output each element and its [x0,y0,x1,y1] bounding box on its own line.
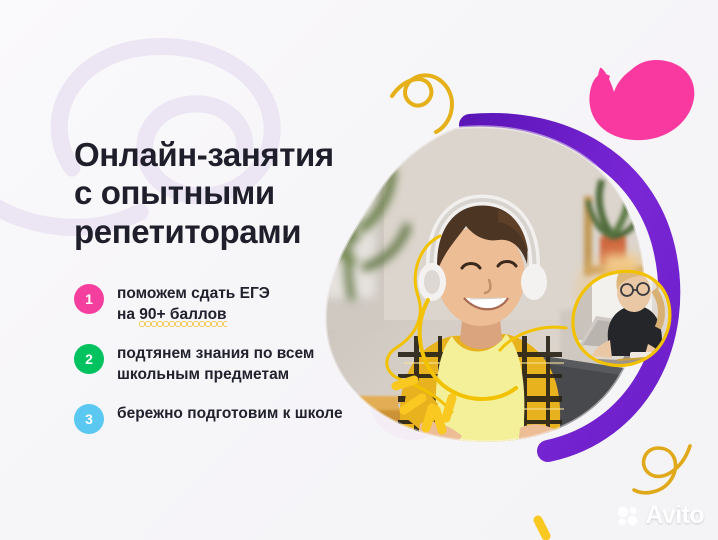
yellow-dash-bottom-decor [538,520,546,536]
list-item: 3 бережно подготовим к школе [74,403,404,434]
page-title: Онлайн-занятия с опытными репетиторами [74,136,364,251]
avito-logo-icon [616,504,640,528]
bullet-text-highlight: 90+ баллов [139,306,226,327]
yellow-squiggle-bottom-decor [634,446,690,493]
bullet-text: бережно подготовим к школе [117,403,343,425]
benefits-list: 1 поможем сдать ЕГЭ на 90+ баллов 2 подт… [74,283,404,434]
yellow-squiggle-top-decor [392,75,452,132]
bullet-text-lead: бережно подготовим к школе [117,405,343,422]
bullet-number-badge: 3 [74,404,104,434]
list-item: 1 поможем сдать ЕГЭ на 90+ баллов [74,283,404,325]
bullet-number-badge: 1 [74,284,104,314]
banner-canvas: Онлайн-занятия с опытными репетиторами 1… [0,0,718,540]
bullet-text: подтянем знания по всем школьным предмет… [117,343,314,385]
bullet-number-badge: 2 [74,344,104,374]
avito-wordmark: Avito [645,501,704,530]
yellow-dash-right-decor [436,410,442,430]
list-item: 2 подтянем знания по всем школьным предм… [74,343,404,385]
bullet-text-lead: подтянем знания по всем школьным предмет… [117,345,314,383]
avito-watermark: Avito [616,501,704,530]
bullet-text: поможем сдать ЕГЭ на 90+ баллов [117,283,270,325]
photo-illustration-layer [0,0,718,540]
